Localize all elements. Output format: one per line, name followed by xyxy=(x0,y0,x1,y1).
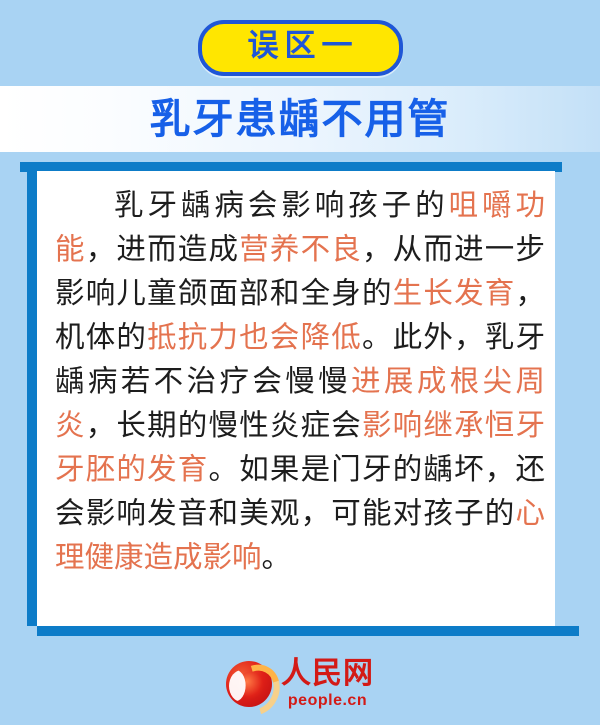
people-globe-icon xyxy=(226,661,272,707)
content-card: 乳牙龋病会影响孩子的咀嚼功能，进而造成营养不良，从而进一步影响儿童颌面部和全身的… xyxy=(0,154,600,654)
title-band: 乳牙患龋不用管 xyxy=(0,86,600,152)
body-run: ，长期的慢性炎症会 xyxy=(86,409,362,442)
highlighted-phrase: 抵抗力也会降低 xyxy=(147,321,362,354)
logo-wordmark: 人民网 people.cn xyxy=(281,659,374,709)
body-run: 。 xyxy=(262,541,292,574)
page-title: 乳牙患龋不用管 xyxy=(150,99,451,140)
highlighted-phrase: 营养不良 xyxy=(239,233,362,266)
highlighted-phrase: 生长发育 xyxy=(393,277,516,310)
card-body-text: 乳牙龋病会影响孩子的咀嚼功能，进而造成营养不良，从而进一步影响儿童颌面部和全身的… xyxy=(55,184,545,580)
card-border-left xyxy=(27,162,37,626)
logo-text-en: people.cn xyxy=(288,693,367,709)
card-border-bottom xyxy=(37,626,579,636)
footer-logo: 人民网 people.cn xyxy=(0,642,600,725)
poster-root: 误区一 乳牙患龋不用管 乳牙龋病会影响孩子的咀嚼功能，进而造成营养不良，从而进一… xyxy=(0,0,600,725)
body-run: 乳牙龋病会影响孩子的 xyxy=(114,189,449,222)
misconception-badge: 误区一 xyxy=(198,20,403,77)
logo-text-cn: 人民网 xyxy=(281,659,374,689)
body-run: ，进而造成 xyxy=(86,233,239,266)
badge-container: 误区一 xyxy=(198,22,403,74)
